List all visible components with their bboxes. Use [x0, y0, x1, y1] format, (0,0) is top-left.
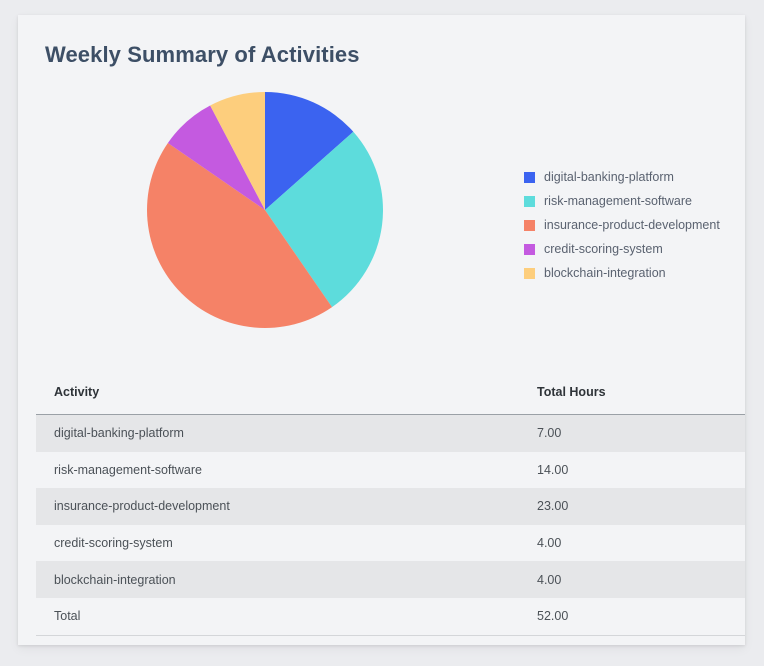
pie-chart [146, 91, 384, 329]
column-header-activity[interactable]: Activity [36, 370, 537, 415]
table-body: digital-banking-platform 7.00 risk-manag… [36, 415, 745, 636]
cell-activity: credit-scoring-system [36, 525, 537, 562]
table-row[interactable]: insurance-product-development 23.00 [36, 488, 745, 525]
column-header-total-hours[interactable]: Total Hours [537, 370, 745, 415]
cell-activity: risk-management-software [36, 452, 537, 489]
cell-total-value: 52.00 [537, 598, 745, 635]
table-header-row: Activity Total Hours [36, 370, 745, 415]
cell-total-hours: 4.00 [537, 525, 745, 562]
legend-swatch-icon [524, 172, 535, 183]
legend-item-insurance-product-development[interactable]: insurance-product-development [524, 213, 720, 237]
cell-total-hours: 4.00 [537, 561, 745, 598]
cell-total-label: Total [36, 598, 537, 635]
legend-item-blockchain-integration[interactable]: blockchain-integration [524, 261, 720, 285]
table-row[interactable]: digital-banking-platform 7.00 [36, 415, 745, 452]
cell-activity: digital-banking-platform [36, 415, 537, 452]
chart-area: digital-banking-platform risk-management… [18, 77, 745, 367]
table-total-row: Total 52.00 [36, 598, 745, 635]
legend-item-label: digital-banking-platform [544, 171, 674, 184]
legend-swatch-icon [524, 196, 535, 207]
legend-item-label: blockchain-integration [544, 267, 666, 280]
table-row[interactable]: risk-management-software 14.00 [36, 452, 745, 489]
cell-activity: blockchain-integration [36, 561, 537, 598]
chart-legend: digital-banking-platform risk-management… [524, 165, 720, 285]
legend-item-label: insurance-product-development [544, 219, 720, 232]
activity-summary-table: Activity Total Hours digital-banking-pla… [36, 370, 745, 636]
legend-item-label: credit-scoring-system [544, 243, 663, 256]
summary-card: Weekly Summary of Activities digital-ban… [18, 15, 745, 645]
cell-activity: insurance-product-development [36, 488, 537, 525]
legend-swatch-icon [524, 244, 535, 255]
legend-item-label: risk-management-software [544, 195, 692, 208]
cell-total-hours: 14.00 [537, 452, 745, 489]
legend-item-digital-banking-platform[interactable]: digital-banking-platform [524, 165, 720, 189]
cell-total-hours: 7.00 [537, 415, 745, 452]
table-row[interactable]: credit-scoring-system 4.00 [36, 525, 745, 562]
table-row[interactable]: blockchain-integration 4.00 [36, 561, 745, 598]
legend-swatch-icon [524, 268, 535, 279]
legend-swatch-icon [524, 220, 535, 231]
legend-item-risk-management-software[interactable]: risk-management-software [524, 189, 720, 213]
page-title: Weekly Summary of Activities [45, 42, 360, 68]
cell-total-hours: 23.00 [537, 488, 745, 525]
pie-chart-svg [146, 91, 384, 329]
table-header: Activity Total Hours [36, 370, 745, 415]
legend-item-credit-scoring-system[interactable]: credit-scoring-system [524, 237, 720, 261]
